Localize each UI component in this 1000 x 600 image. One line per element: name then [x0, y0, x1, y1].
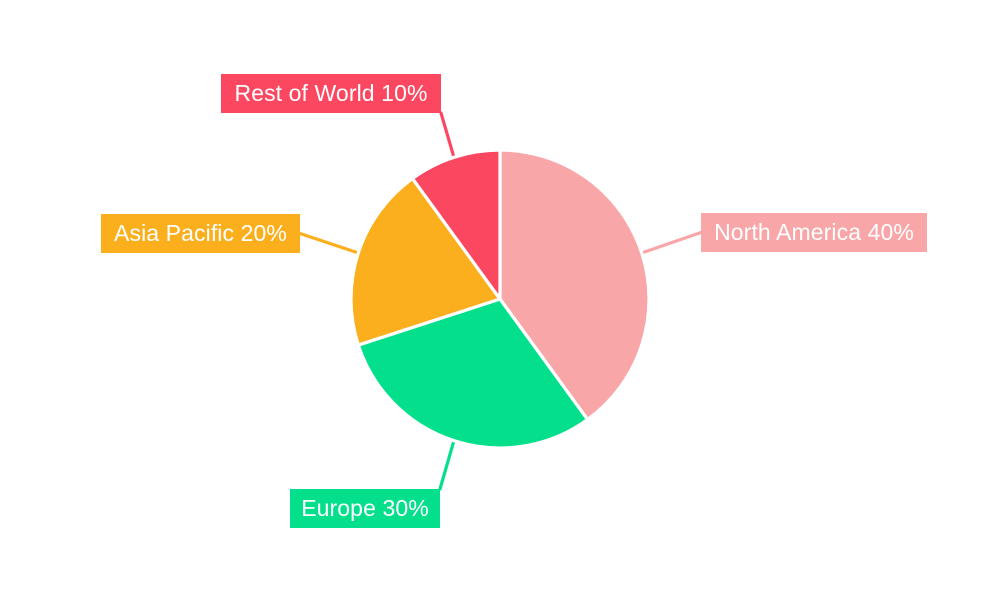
leader-line-asia-pacific: [300, 234, 357, 253]
slice-label-north-america: North America 40%: [701, 213, 927, 252]
pie-chart-canvas: [0, 0, 1000, 600]
leader-line-rest-of-world: [441, 113, 454, 156]
pie-chart-figure: North America 40% Europe 30% Asia Pacifi…: [0, 0, 1000, 600]
leader-line-north-america: [643, 233, 701, 253]
pie-wedges: [351, 150, 649, 448]
slice-label-asia-pacific: Asia Pacific 20%: [101, 214, 300, 253]
slice-label-europe: Europe 30%: [290, 489, 440, 528]
leader-line-europe: [440, 442, 454, 489]
slice-label-rest-of-world: Rest of World 10%: [221, 74, 441, 113]
